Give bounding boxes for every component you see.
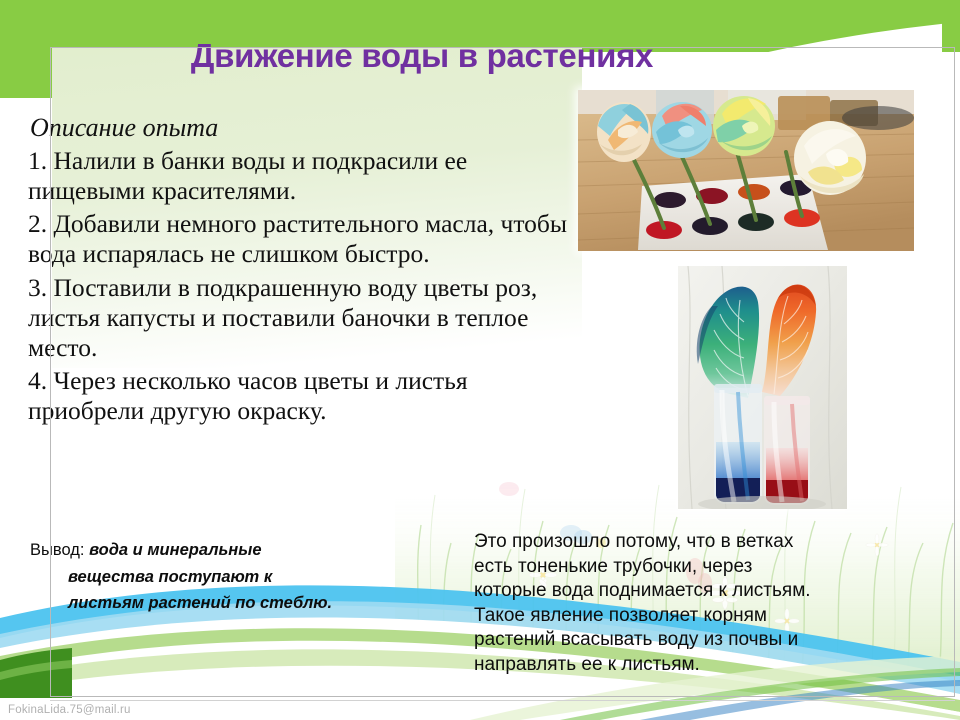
description-step-1: 1. Налили в банки воды и подкрасили ее п… xyxy=(28,146,573,206)
conclusion-label: Вывод: xyxy=(30,541,84,559)
description-heading: Описание опыта xyxy=(30,113,573,144)
explanation-line-1: Это произошло потому, что в ветках xyxy=(474,530,894,555)
watermark-email: FokinaLida.75@mail.ru xyxy=(8,704,131,716)
description-step-2: 2. Добавили немного растительного масла,… xyxy=(28,209,573,269)
green-corner-block xyxy=(0,646,72,698)
slide-canvas: Движение воды в растениях Описание опыта… xyxy=(0,0,960,720)
watermark-divider xyxy=(50,700,955,701)
explanation-line-5: растений всасывать воду из почвы и xyxy=(474,628,894,653)
conclusion-text-line3: листьям растений по стеблю. xyxy=(68,590,450,617)
cabbage-leaves-jars-photo xyxy=(678,266,847,509)
experiment-description-block: Описание опыта 1. Налили в банки воды и … xyxy=(28,113,573,430)
conclusion-text-line2: вещества поступают к xyxy=(68,564,450,591)
explanation-line-4: Такое явление позволяет корням xyxy=(474,604,894,629)
conclusion-text-line1: вода и минеральные xyxy=(89,541,261,559)
page-title: Движение воды в растениях xyxy=(52,38,792,74)
roses-in-dye-photo xyxy=(578,90,914,251)
jars-photo-graphic xyxy=(678,266,847,509)
explanation-line-2: есть тоненькие трубочки, через xyxy=(474,555,894,580)
explanation-line-6: направлять ее к листьям. xyxy=(474,653,894,678)
explanation-block: Это произошло потому, что в ветках есть … xyxy=(474,530,894,677)
conclusion-block: Вывод: вода и минеральные вещества посту… xyxy=(30,537,450,617)
green-right-band xyxy=(942,0,960,52)
roses-photo-graphic xyxy=(578,90,914,251)
description-step-4: 4. Через несколько часов цветы и листья … xyxy=(28,366,573,426)
explanation-line-3: которые вода поднимается к листьям. xyxy=(474,579,894,604)
description-step-3: 3. Поставили в подкрашенную воду цветы р… xyxy=(28,273,573,362)
